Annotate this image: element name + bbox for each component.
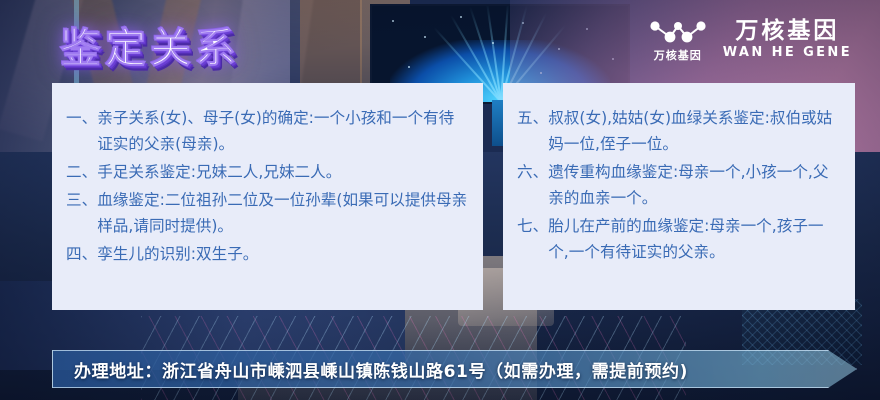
- logo-mark: 万核基因: [647, 18, 709, 63]
- address-banner-text: 办理地址：浙江省舟山市嵊泗县嵊山镇陈钱山路61号（如需办理，需提前预约): [52, 350, 857, 388]
- page-title: 鉴定关系: [60, 14, 240, 74]
- service-list-card-left: 一、 亲子关系(女)、母子(女)的确定:一个小孩和一个有待证实的父亲(母亲)。 …: [52, 83, 483, 310]
- list-item-index: 二、: [66, 159, 97, 185]
- list-item: 三、 血缘鉴定:二位祖孙二位及一位孙辈(如果可以提供母亲样品,请同时提供)。: [66, 187, 469, 239]
- list-item-index: 五、: [517, 105, 548, 131]
- list-item: 五、 叔叔(女),姑姑(女)血绿关系鉴定:叔伯或姑妈一位,侄子一位。: [517, 105, 841, 157]
- list-item-text: 手足关系鉴定:兄妹二人,兄妹二人。: [97, 159, 469, 185]
- brand-name-cn: 万核基因: [735, 19, 839, 44]
- list-item-text: 血缘鉴定:二位祖孙二位及一位孙辈(如果可以提供母亲样品,请同时提供)。: [97, 187, 469, 239]
- list-item: 一、 亲子关系(女)、母子(女)的确定:一个小孩和一个有待证实的父亲(母亲)。: [66, 105, 469, 157]
- list-item-index: 六、: [517, 159, 548, 185]
- address-banner: 办理地址：浙江省舟山市嵊泗县嵊山镇陈钱山路61号（如需办理，需提前预约): [52, 350, 857, 388]
- list-item-index: 七、: [517, 213, 548, 239]
- list-item: 七、 胎儿在产前的血缘鉴定:母亲一个,孩子一个,一个有待证实的父亲。: [517, 213, 841, 265]
- list-item-text: 叔叔(女),姑姑(女)血绿关系鉴定:叔伯或姑妈一位,侄子一位。: [548, 105, 841, 157]
- service-list-card-right: 五、 叔叔(女),姑姑(女)血绿关系鉴定:叔伯或姑妈一位,侄子一位。 六、 遗传…: [503, 83, 855, 310]
- molecule-node-icon: [647, 18, 709, 44]
- list-item: 二、 手足关系鉴定:兄妹二人,兄妹二人。: [66, 159, 469, 185]
- list-item: 四、 孪生儿的识别:双生子。: [66, 241, 469, 267]
- brand-logo: 万核基因 万核基因 WAN HE GENE: [647, 18, 852, 63]
- list-item-text: 遗传重构血缘鉴定:母亲一个,小孩一个,父亲的血亲一个。: [548, 159, 841, 211]
- list-item: 六、 遗传重构血缘鉴定:母亲一个,小孩一个,父亲的血亲一个。: [517, 159, 841, 211]
- list-item-index: 四、: [66, 241, 97, 267]
- brand-text: 万核基因 WAN HE GENE: [723, 19, 852, 61]
- list-item-index: 一、: [66, 105, 97, 131]
- list-item-text: 胎儿在产前的血缘鉴定:母亲一个,孩子一个,一个有待证实的父亲。: [548, 213, 841, 265]
- list-item-text: 孪生儿的识别:双生子。: [97, 241, 469, 267]
- list-item-text: 亲子关系(女)、母子(女)的确定:一个小孩和一个有待证实的父亲(母亲)。: [97, 105, 469, 157]
- brand-name-en: WAN HE GENE: [723, 45, 852, 62]
- logo-mark-label: 万核基因: [654, 47, 702, 63]
- list-item-index: 三、: [66, 187, 97, 213]
